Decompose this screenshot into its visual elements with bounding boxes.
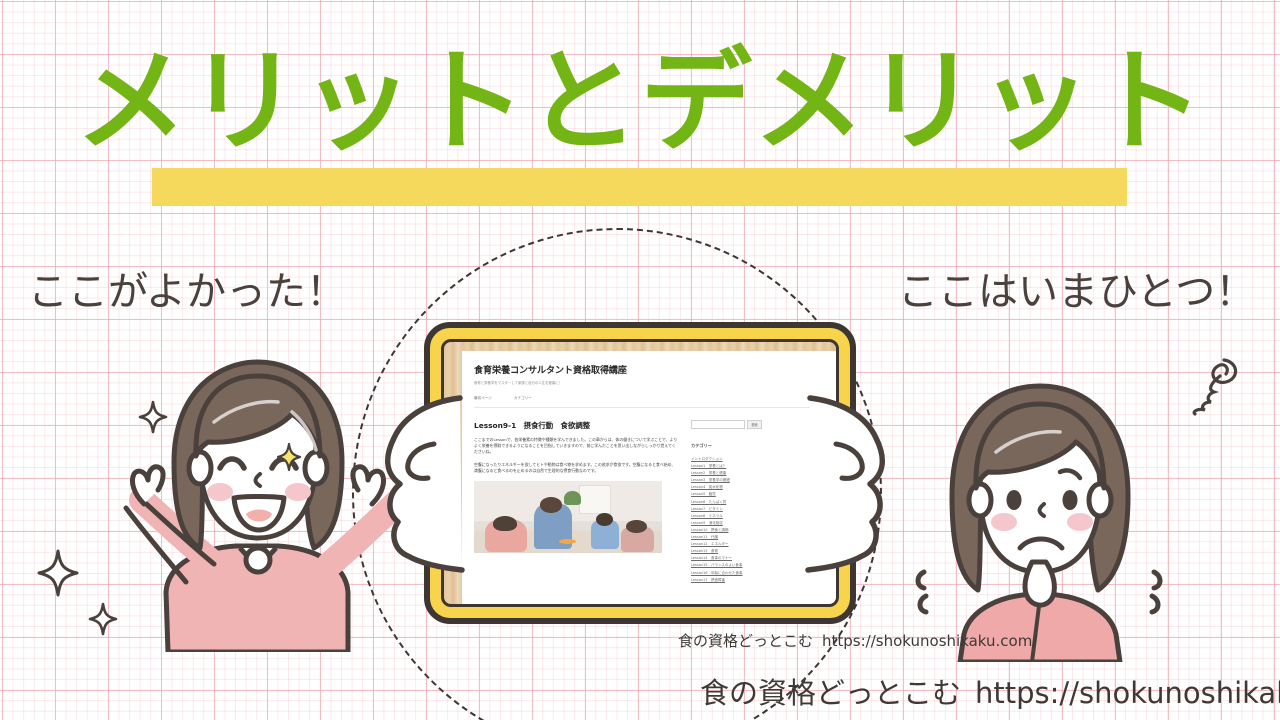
category-link[interactable]: Lesson3 栄養学の基礎 <box>691 477 763 484</box>
page-body: Lesson9-1 摂食行動 食欲調整 ここまでのLessonで、各栄養素の特徴… <box>474 420 824 584</box>
sparkle-icon <box>88 602 118 640</box>
tablet-screen: 食育栄養コンサルタント資格取得講座 食育と栄養学をマスターして家族と自分の人生を… <box>441 339 839 607</box>
lesson-paragraph-1: ここまでのLessonで、各栄養素の特徴や種類を学んできました。この章からは、体… <box>474 437 679 456</box>
article-column: Lesson9-1 摂食行動 食欲調整 ここまでのLessonで、各栄養素の特徴… <box>474 420 679 584</box>
left-hand-holding-tablet <box>374 392 464 592</box>
title-block: メリットとデメリット <box>0 28 1280 183</box>
category-link[interactable]: Lesson6 たんぱく質 <box>691 499 763 506</box>
category-link[interactable]: Lesson11 代謝 <box>691 534 763 541</box>
sparkle-icon <box>36 548 80 602</box>
category-link[interactable]: Lesson9 消化吸収 <box>691 520 763 527</box>
lesson-paragraph-2: 空腹になったりエネルギーを欲してヒトや動物は食べ物を求めます。この欲求が食欲です… <box>474 462 679 474</box>
category-link[interactable]: Lesson13 食育 <box>691 548 763 555</box>
slide-canvas: メリットとデメリット ここがよかった！ ここはいまひとつ！ <box>0 0 1280 720</box>
sparkle-icon <box>276 442 302 476</box>
family-dining-photo <box>474 481 662 553</box>
category-link[interactable]: Lesson12 エネルギー <box>691 541 763 548</box>
category-link[interactable]: Lesson4 炭水化物 <box>691 484 763 491</box>
category-link-list[interactable]: イントロダクション Lesson1 栄養とは？ Lesson2 栄養と健康 Le… <box>691 456 763 584</box>
credit-site-name: 食の資格どっとこむ <box>678 632 813 650</box>
category-link[interactable]: Lesson7 ビタミン <box>691 506 763 513</box>
category-link[interactable]: Lesson10 摂食と調節 <box>691 527 763 534</box>
category-link[interactable]: Lesson15 バランスのよい食事 <box>691 562 763 569</box>
sidebar-column: 検索 カテゴリー イントロダクション Lesson1 栄養とは？ Lesson2… <box>691 420 763 584</box>
nav-item-home[interactable]: 最初ページ <box>474 396 492 401</box>
lesson-heading: Lesson9-1 摂食行動 食欲調整 <box>474 420 679 431</box>
sparkle-icon <box>138 400 168 438</box>
site-nav[interactable]: 最初ページ カテゴリー <box>474 396 824 408</box>
right-hand-holding-tablet <box>806 392 896 592</box>
credit-url: https://shokunoshikaku.com/ <box>822 632 1037 650</box>
happy-woman-illustration <box>108 352 408 656</box>
category-link[interactable]: Lesson2 栄養と健康 <box>691 470 763 477</box>
caption-right: ここはいまひとつ！ <box>898 268 1255 316</box>
category-link[interactable]: Lesson14 食事のマナー <box>691 555 763 562</box>
puzzled-woman-illustration <box>900 372 1180 666</box>
search-row[interactable]: 検索 <box>691 420 763 429</box>
credit-large: 食の資格どっとこむhttps://shokunoshikaku.com/ <box>700 670 1280 712</box>
credit-small: 食の資格どっとこむhttps://shokunoshikaku.com/ <box>678 630 1037 651</box>
page-title: メリットとデメリット <box>0 28 1280 176</box>
nav-item-category[interactable]: カテゴリー <box>514 396 532 401</box>
category-link[interactable]: Lesson5 脂質 <box>691 491 763 498</box>
credit-site-name: 食の資格どっとこむ <box>700 676 961 710</box>
course-webpage: 食育栄養コンサルタント資格取得講座 食育と栄養学をマスターして家族と自分の人生を… <box>462 351 836 604</box>
site-subtitle: 食育と栄養学をマスターして家族と自分の人生を健康に！ <box>474 380 824 385</box>
category-link[interactable]: Lesson17 摂食障害 <box>691 577 763 584</box>
site-title: 食育栄養コンサルタント資格取得講座 <box>474 362 824 376</box>
category-link[interactable]: Lesson1 栄養とは？ <box>691 463 763 470</box>
credit-url: https://shokunoshikaku.com/ <box>975 676 1280 710</box>
search-input[interactable] <box>691 420 745 429</box>
category-link[interactable]: Lesson8 ミネラル <box>691 513 763 520</box>
category-link[interactable]: Lesson16 年齢に合わせた食事 <box>691 570 763 577</box>
sidebar-heading: カテゴリー <box>691 443 763 449</box>
confusion-spiral-icon <box>1164 352 1244 420</box>
tablet-device: 食育栄養コンサルタント資格取得講座 食育と栄養学をマスターして家族と自分の人生を… <box>424 322 856 624</box>
caption-left: ここがよかった！ <box>28 268 346 316</box>
search-button[interactable]: 検索 <box>747 420 762 429</box>
category-link[interactable]: イントロダクション <box>691 456 763 463</box>
